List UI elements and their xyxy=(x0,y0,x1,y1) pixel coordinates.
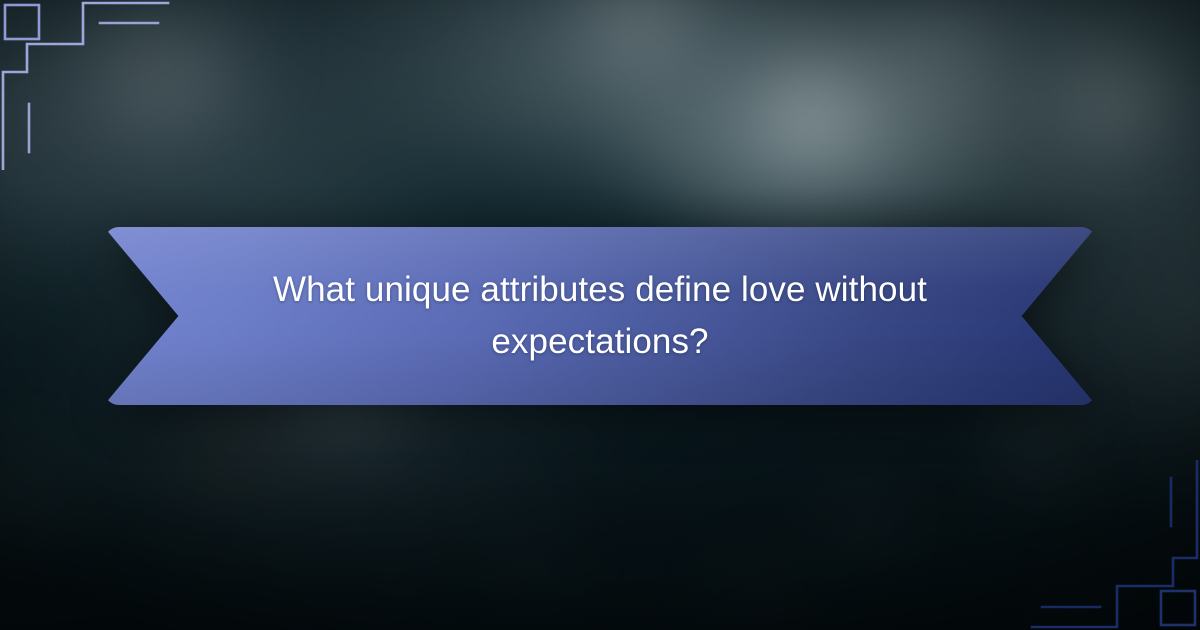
quote-card: What unique attributes define love witho… xyxy=(0,0,1200,630)
quote-text: What unique attributes define love witho… xyxy=(104,227,1096,405)
quote-banner: What unique attributes define love witho… xyxy=(104,227,1096,405)
